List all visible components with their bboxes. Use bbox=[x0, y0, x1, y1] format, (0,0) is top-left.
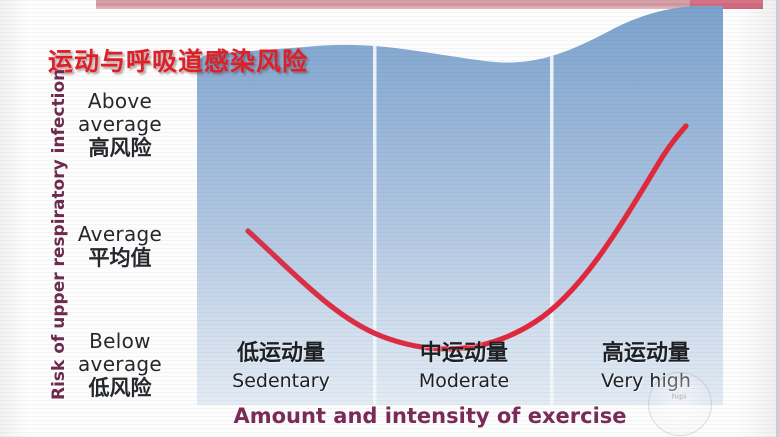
y-tick-below-average-cn: 低风险 bbox=[56, 376, 184, 400]
x-category-moderate-en: Moderate bbox=[376, 368, 552, 394]
x-category-sedentary-cn: 低运动量 bbox=[190, 340, 372, 368]
x-category-moderate-cn: 中运动量 bbox=[376, 340, 552, 368]
x-category-moderate: 中运动量 Moderate bbox=[376, 340, 552, 394]
x-category-sedentary: 低运动量 Sedentary bbox=[190, 340, 372, 394]
y-tick-average-cn: 平均值 bbox=[56, 246, 184, 270]
x-category-very-high: 高运动量 Very high bbox=[556, 340, 736, 394]
y-tick-above-average-en1: Above bbox=[56, 90, 184, 113]
y-tick-below-average-en2: average bbox=[56, 353, 184, 376]
y-tick-average-en1: Average bbox=[56, 223, 184, 246]
y-tick-average: Average 平均值 bbox=[56, 223, 184, 270]
left-gutter bbox=[0, 0, 26, 437]
right-gutter bbox=[739, 0, 779, 437]
x-category-very-high-en: Very high bbox=[556, 368, 736, 394]
x-category-very-high-cn: 高运动量 bbox=[556, 340, 736, 368]
y-tick-below-average-en1: Below bbox=[56, 330, 184, 353]
y-tick-below-average: Below average 低风险 bbox=[56, 330, 184, 400]
slide-headline: 运动与呼吸道感染风险 bbox=[48, 42, 308, 78]
y-tick-above-average: Above average 高风险 bbox=[56, 90, 184, 160]
x-category-sedentary-en: Sedentary bbox=[190, 368, 372, 394]
slide-canvas: 运动与呼吸道感染风险 Risk of upper respiratory inf… bbox=[0, 0, 779, 437]
x-axis-title: Amount and intensity of exercise bbox=[150, 404, 710, 428]
y-tick-above-average-en2: average bbox=[56, 113, 184, 136]
y-tick-above-average-cn: 高风险 bbox=[56, 136, 184, 160]
